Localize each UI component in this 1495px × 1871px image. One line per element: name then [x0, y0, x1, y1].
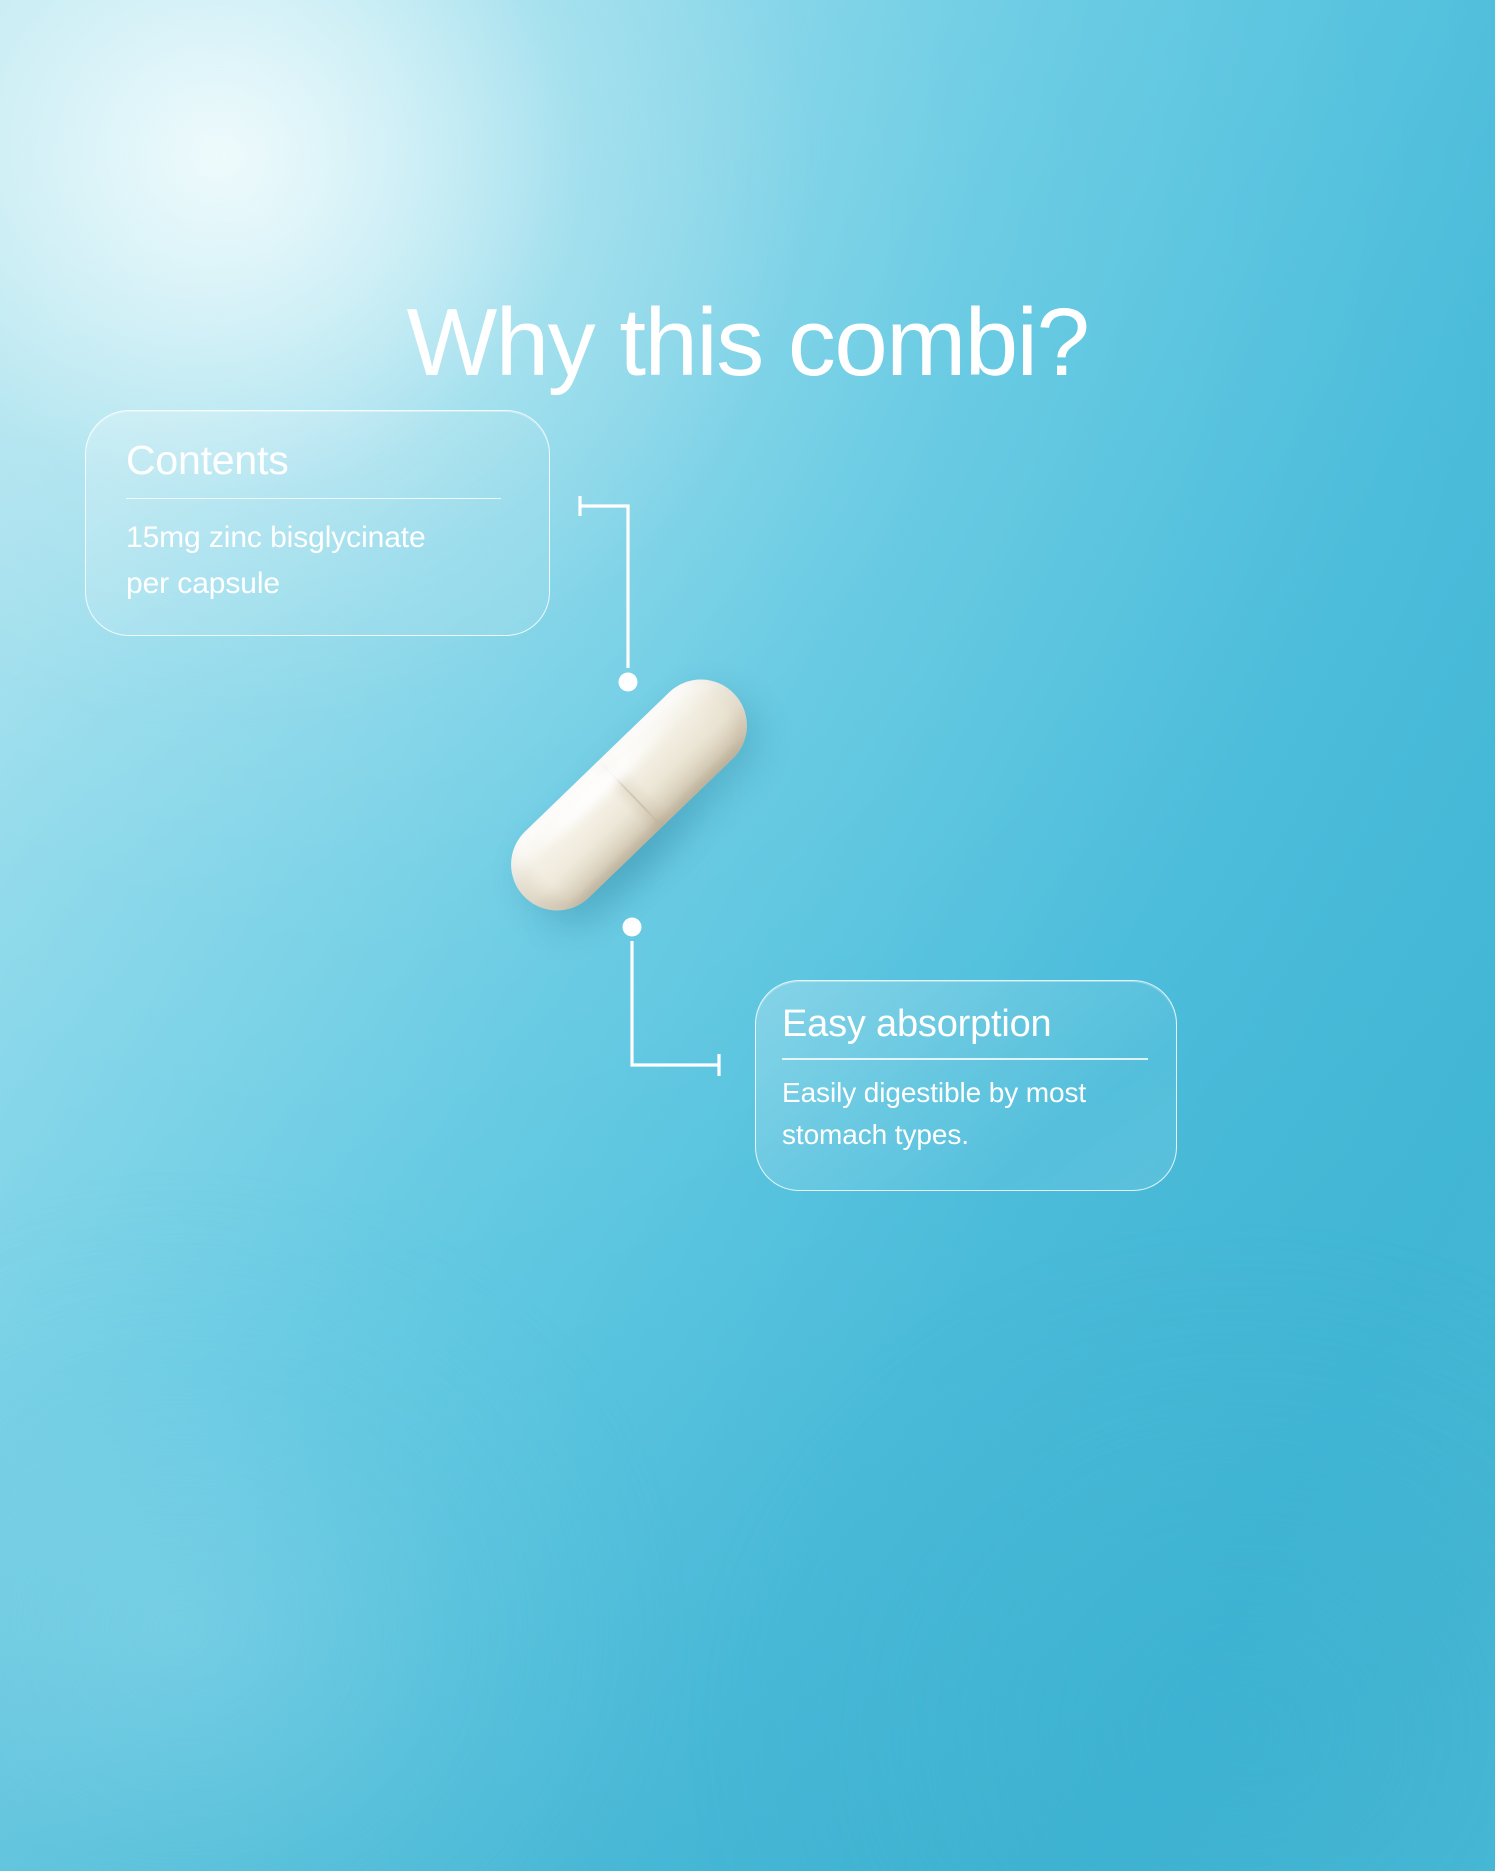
- capsule-image: [498, 663, 760, 925]
- info-card-absorption[interactable]: Easy absorption Easily digestible by mos…: [755, 980, 1177, 1191]
- info-card-contents-body-line-2: per capsule: [126, 561, 505, 607]
- info-card-absorption-body-line-2: stomach types.: [782, 1114, 1148, 1156]
- info-card-contents-body-line-1: 15mg zinc bisglycinate: [126, 515, 505, 561]
- poster-canvas: Why this combi? Contents 15mg zinc bisg: [0, 0, 1495, 1871]
- info-card-contents-body: 15mg zinc bisglycinate per capsule: [126, 515, 505, 606]
- info-card-contents[interactable]: Contents 15mg zinc bisglycinate per caps…: [85, 410, 550, 636]
- info-card-absorption-divider: [782, 1058, 1148, 1059]
- page-title: Why this combi?: [0, 292, 1495, 394]
- background-vignette: [0, 0, 1495, 1871]
- info-card-absorption-body-line-1: Easily digestible by most: [782, 1072, 1148, 1114]
- info-card-absorption-body: Easily digestible by most stomach types.: [782, 1072, 1148, 1156]
- info-card-absorption-inner: Easy absorption Easily digestible by mos…: [782, 1003, 1148, 1156]
- info-card-contents-divider: [126, 498, 501, 499]
- info-card-absorption-title: Easy absorption: [782, 1003, 1148, 1046]
- info-card-contents-inner: Contents 15mg zinc bisglycinate per caps…: [126, 437, 505, 606]
- info-card-contents-title: Contents: [126, 437, 505, 484]
